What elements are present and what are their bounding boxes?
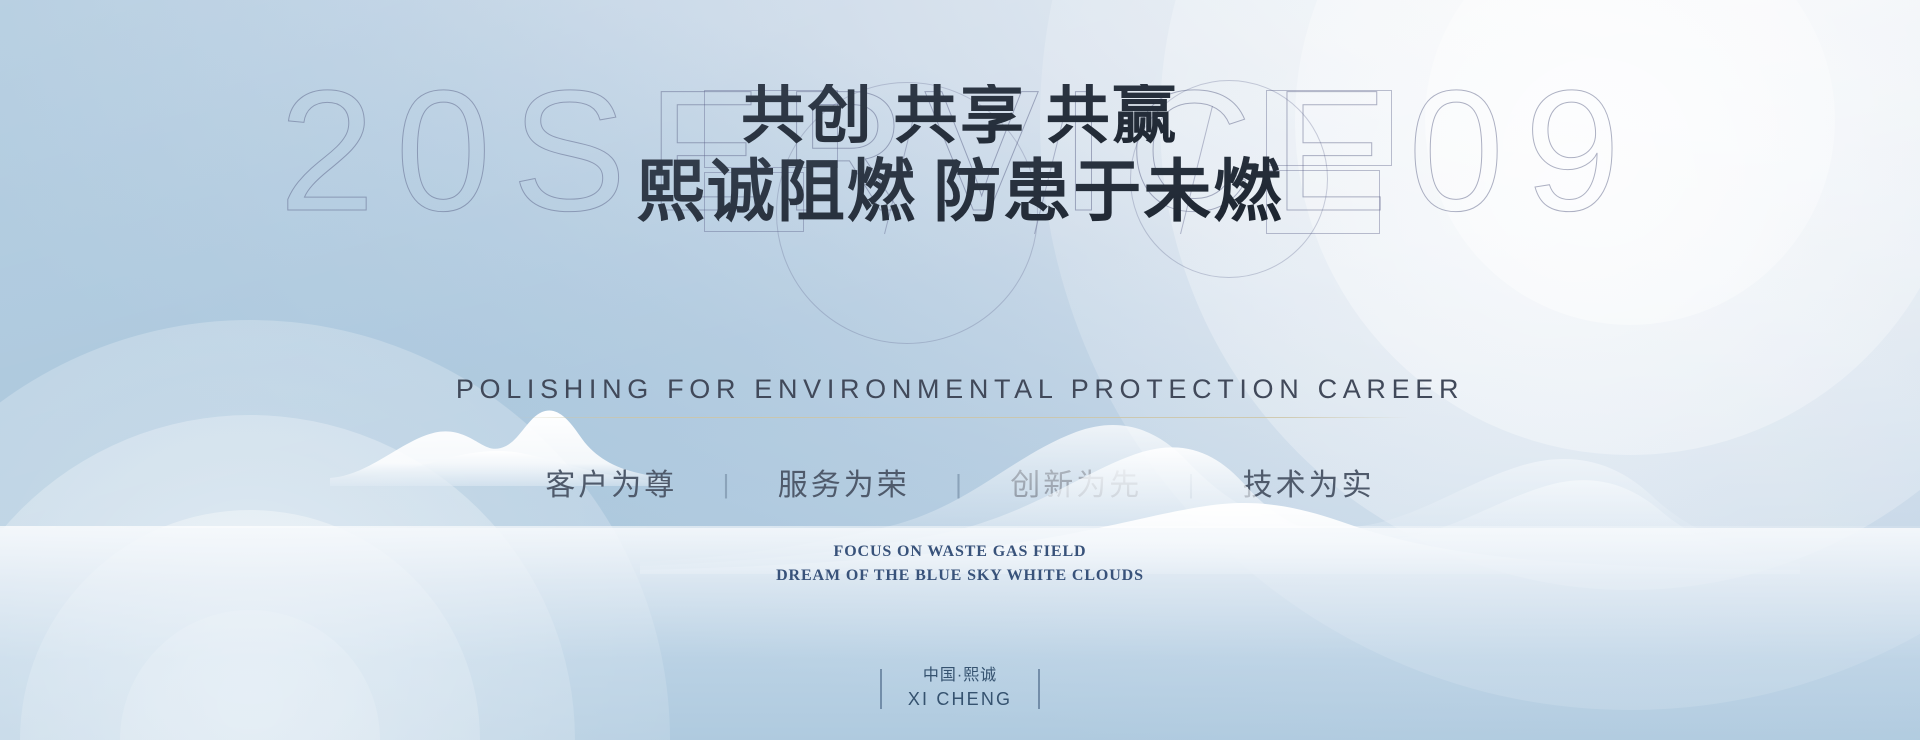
headline-line-2: 熙诚阻燃防患于未燃 bbox=[0, 154, 1920, 230]
value-item-1: 客户为尊 bbox=[545, 460, 677, 504]
signature-bar-left bbox=[880, 669, 882, 709]
micro-copy-line-1: FOCUS ON WASTE GAS FIELD bbox=[0, 540, 1920, 564]
signature-en: XI CHENG bbox=[908, 687, 1012, 712]
headline-line-1: 共创共享共赢 bbox=[0, 84, 1920, 148]
micro-copy-block: FOCUS ON WASTE GAS FIELD DREAM OF THE BL… bbox=[0, 540, 1920, 589]
value-separator-3: | bbox=[1188, 469, 1198, 500]
signature-bar-right bbox=[1038, 669, 1040, 709]
subtitle-text: POLISHING FOR ENVIRONMENTAL PROTECTION C… bbox=[456, 374, 1464, 404]
micro-copy-line-2: DREAM OF THE BLUE SKY WHITE CLOUDS bbox=[0, 564, 1920, 588]
headline-word-2: 共享 bbox=[893, 80, 1026, 151]
headline-word-1: 共创 bbox=[741, 80, 874, 151]
value-separator-1: | bbox=[723, 469, 733, 500]
banner-stage: 20SERVICE09 共创共享共赢 熙诚阻燃防患于未燃 POL bbox=[0, 0, 1920, 740]
headline-word-5: 防患于未燃 bbox=[933, 154, 1283, 230]
horizon-line bbox=[0, 526, 1920, 528]
signature-block: 中国·熙诚 XI CHENG bbox=[0, 665, 1920, 712]
headline-block: 共创共享共赢 熙诚阻燃防患于未燃 bbox=[0, 84, 1920, 230]
values-row: 客户为尊 | 服务为荣 | 创新为先 | 技术为实 bbox=[0, 460, 1920, 504]
value-separator-2: | bbox=[955, 469, 965, 500]
headline-word-3: 共赢 bbox=[1046, 80, 1179, 151]
value-item-4: 技术为实 bbox=[1243, 460, 1375, 504]
headline-word-4: 熙诚阻燃 bbox=[637, 154, 917, 230]
signature-text: 中国·熙诚 XI CHENG bbox=[908, 665, 1012, 712]
subtitle-rule bbox=[511, 417, 1409, 418]
value-item-2: 服务为荣 bbox=[778, 460, 910, 504]
signature-cn: 中国·熙诚 bbox=[908, 665, 1012, 687]
value-item-3: 创新为先 bbox=[1010, 460, 1142, 504]
subtitle-block: POLISHING FOR ENVIRONMENTAL PROTECTION C… bbox=[0, 374, 1920, 418]
